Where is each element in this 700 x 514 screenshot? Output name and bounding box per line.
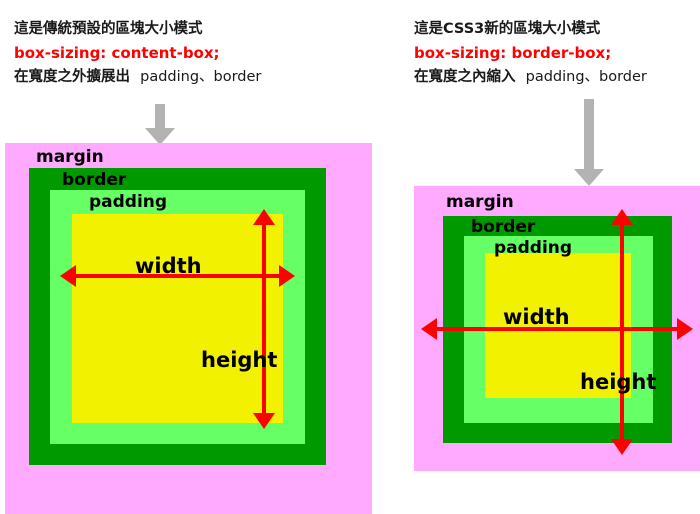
width-label: width [135, 255, 202, 277]
caption-right: 這是CSS3新的區塊大小模式 box-sizing: border-box; 在… [414, 18, 647, 89]
caption-left-line1: 這是傳統預設的區塊大小模式 [14, 18, 261, 41]
height-label: height [580, 371, 656, 393]
arrow-shaft [262, 220, 266, 418]
caption-left-line3-strong: 在寬度之外擴展出 [14, 69, 130, 85]
box-model-border-box: margin border padding width height [414, 186, 700, 471]
caption-right-line3-light: padding、border [526, 69, 647, 85]
down-arrow-icon-left [145, 104, 175, 145]
caption-right-line1: 這是CSS3新的區塊大小模式 [414, 18, 647, 41]
arrow-head [574, 169, 604, 186]
caption-right-line3-strong: 在寬度之內縮入 [414, 69, 516, 85]
arrow-head-down [611, 439, 633, 455]
padding-label: padding [89, 193, 167, 212]
height-label: height [201, 349, 277, 371]
caption-left-code: box-sizing: content-box; [14, 41, 261, 66]
width-label: width [503, 306, 570, 328]
arrow-head-right [677, 318, 693, 340]
arrow-shaft [584, 99, 594, 171]
caption-left-line3-light: padding、border [140, 69, 261, 85]
content-layer [72, 214, 283, 423]
border-label: border [471, 218, 535, 237]
border-label: border [62, 171, 126, 190]
box-model-content-box: margin border padding width height [5, 143, 372, 514]
caption-right-line3: 在寬度之內縮入 padding、border [414, 66, 647, 89]
diagram-stage: 這是傳統預設的區塊大小模式 box-sizing: content-box; 在… [0, 0, 700, 514]
margin-label: margin [446, 193, 514, 212]
caption-left-line3: 在寬度之外擴展出 padding、border [14, 66, 261, 89]
caption-right-code: box-sizing: border-box; [414, 41, 647, 66]
padding-label: padding [494, 239, 572, 258]
arrow-head-right [279, 265, 295, 287]
margin-label: margin [36, 148, 104, 167]
down-arrow-icon-right [574, 99, 604, 186]
height-arrow [253, 209, 275, 429]
caption-left: 這是傳統預設的區塊大小模式 box-sizing: content-box; 在… [14, 18, 261, 89]
arrow-shaft [155, 104, 165, 130]
arrow-head-down [253, 413, 275, 429]
